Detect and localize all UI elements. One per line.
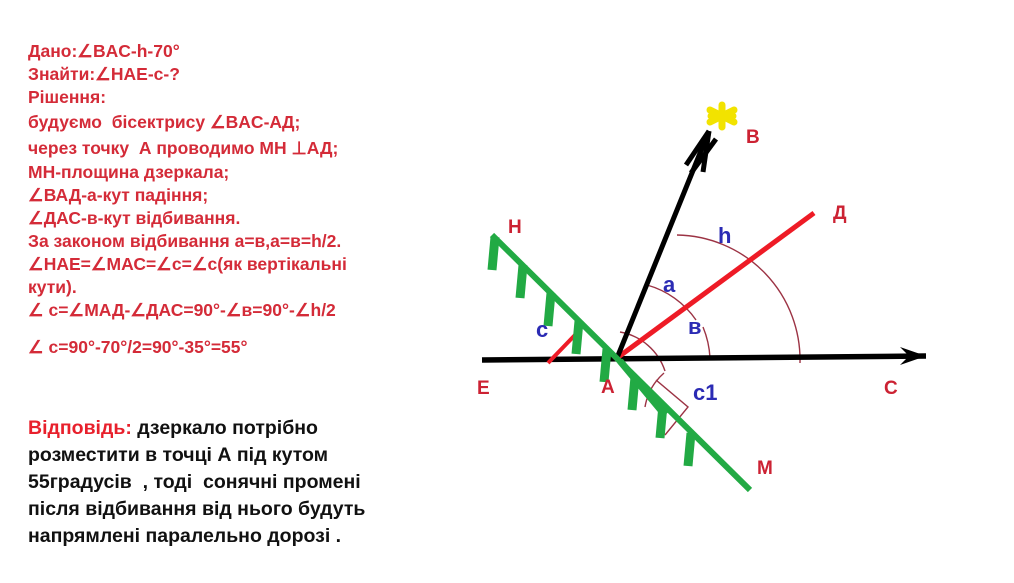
angle-label-c1: c1	[693, 380, 717, 406]
solution-line: Знайти:∠HAE-c-?	[28, 63, 468, 86]
answer-line: після відбивання від нього будуть	[28, 496, 498, 523]
point-label-B: В	[746, 127, 760, 149]
solution-line: кути).	[28, 276, 468, 299]
answer-text-block: Відповідь: дзеркало потрібно розместити …	[28, 415, 498, 550]
angle-label-b: в	[688, 314, 702, 340]
solution-line: Дано:∠BAC-h-70°	[28, 40, 468, 63]
answer-line: розместити в точці А під кутом	[28, 442, 498, 469]
normal-stub-line	[620, 361, 665, 415]
point-label-C: С	[884, 378, 898, 400]
point-label-A: А	[601, 377, 615, 399]
solution-final-line: ∠ с=90°-70°/2=90°-35°=55°	[28, 336, 468, 359]
solution-line: через точку А проводимо МН ⊥АД;	[28, 135, 468, 161]
mirror-hatch	[688, 433, 691, 466]
spacer	[28, 322, 468, 336]
point-label-E: Е	[477, 378, 490, 400]
optics-diagram: В Н Д Е А С М h a в c c1	[460, 95, 1014, 515]
solution-line: ∠ДАС-в-кут відбивання.	[28, 207, 468, 230]
diagram-svg	[460, 95, 1014, 515]
answer-label: Відповідь:	[28, 417, 132, 439]
angle-label-h: h	[718, 223, 731, 249]
mirror-hatch	[548, 293, 551, 326]
point-label-H: Н	[508, 217, 522, 239]
road-line	[482, 356, 926, 360]
solution-text-block: Дано:∠BAC-h-70° Знайти:∠HAE-c-? Рішення:…	[28, 40, 468, 359]
point-label-D: Д	[833, 203, 847, 225]
solution-line: Рішення:	[28, 86, 468, 109]
solution-line: будуємо бісектрису ∠BAC-AД;	[28, 109, 468, 135]
point-label-M: М	[757, 458, 773, 480]
slide-canvas: Дано:∠BAC-h-70° Знайти:∠HAE-c-? Рішення:…	[0, 0, 1014, 583]
mirror-hatch	[492, 237, 495, 270]
mirror-hatch-group	[492, 237, 691, 466]
angle-label-c: c	[536, 317, 548, 343]
solution-line: За законом відбивання а=в,а=в=h/2.	[28, 230, 468, 253]
solution-line: МН-площина дзеркала;	[28, 161, 468, 184]
solution-line: ∠ с=∠МАД-∠ДАС=90°-∠в=90°-∠h/2	[28, 299, 468, 322]
angle-arc-b	[703, 327, 710, 358]
angle-label-a: a	[663, 272, 675, 298]
mirror-hatch	[520, 265, 523, 298]
answer-first-line: Відповідь: дзеркало потрібно	[28, 415, 498, 442]
mirror-hatch	[576, 321, 579, 354]
answer-line: дзеркало потрібно	[132, 417, 318, 439]
answer-line: напрямлені паралельно дорозі .	[28, 523, 498, 550]
answer-line: 55градусів , тоді сонячні промені	[28, 469, 498, 496]
sun-icon	[710, 105, 734, 127]
solution-line: ∠НАЕ=∠МАС=∠с=∠с(як вертікальні	[28, 253, 468, 276]
solution-line: ∠ВАД-а-кут падіння;	[28, 184, 468, 207]
